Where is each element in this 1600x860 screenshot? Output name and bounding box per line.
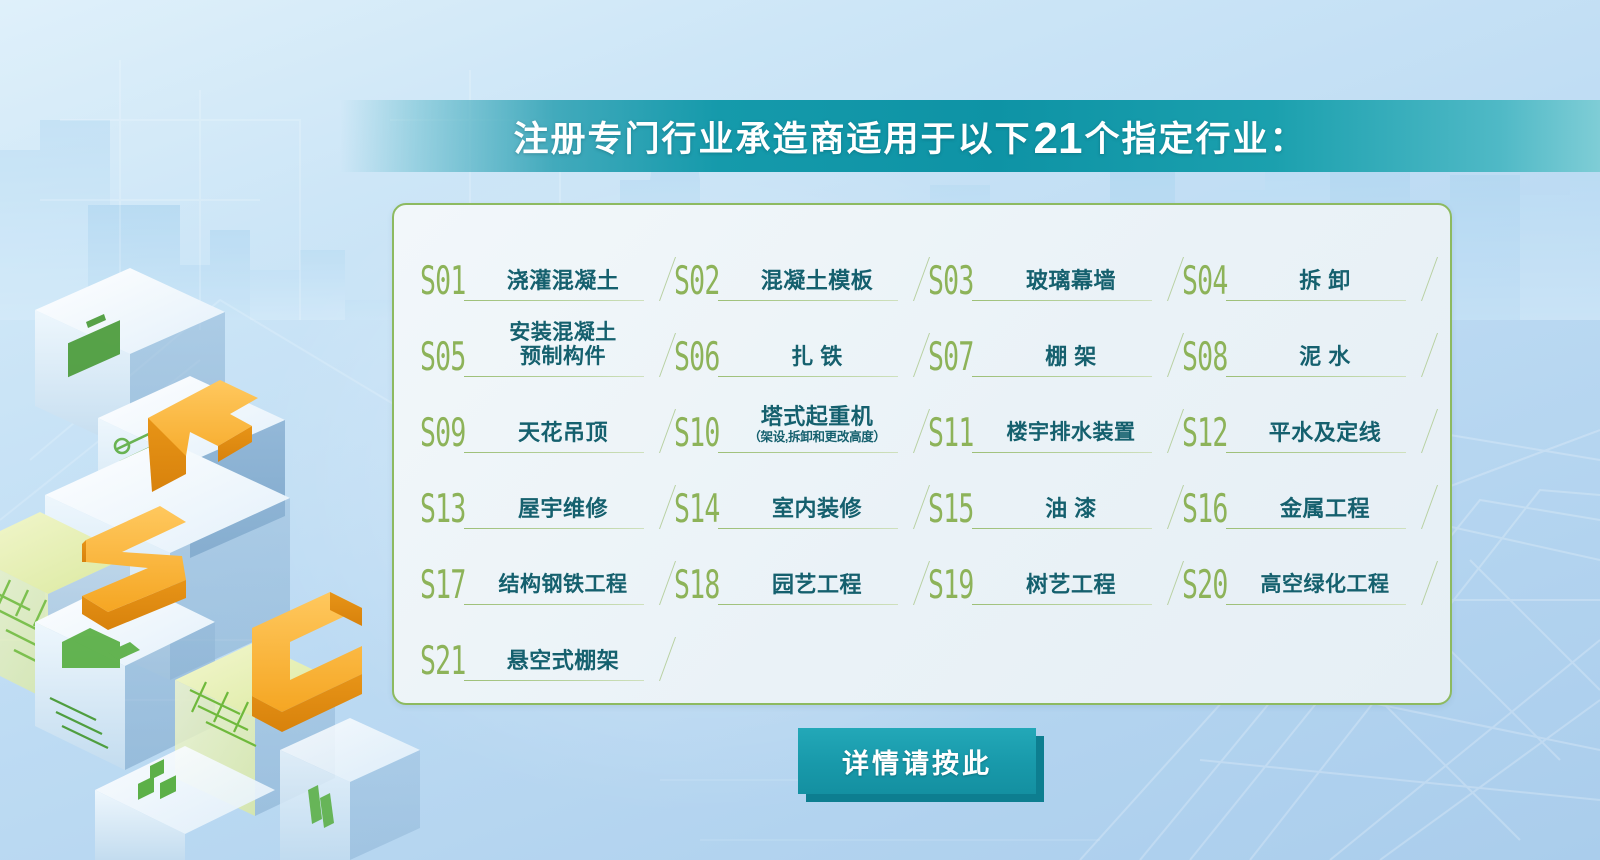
trade-item[interactable]: S09天花吊顶 [416,383,670,459]
trade-underline [718,604,898,605]
trade-code: S08 [1182,338,1230,377]
trade-code: S21 [420,642,468,681]
trade-separator-slash [1421,561,1438,605]
trade-label-wrap: 混凝土模板 [736,268,898,299]
trade-code: S13 [420,490,468,529]
trade-code: S19 [928,566,976,605]
trade-item[interactable]: S14室内装修 [670,459,924,535]
trade-sublabel: （架设,拆卸和更改高度） [748,430,885,445]
poster-root: 注册专门行业承造商适用于以下21个指定行业： S01浇灌混凝土S02混凝土模板S… [0,0,1600,860]
details-button[interactable]: 详情请按此 [798,728,1036,794]
trade-code: S05 [420,338,468,377]
trade-label: 园艺工程 [772,572,862,597]
trade-underline [464,528,644,529]
trade-underline [972,528,1152,529]
trade-label-wrap: 树艺工程 [990,572,1152,603]
trade-label: 悬空式棚架 [507,648,620,673]
trade-code: S03 [928,262,976,301]
trade-code: S01 [420,262,468,301]
page-title: 注册专门行业承造商适用于以下21个指定行业： [514,111,1307,162]
trade-code: S12 [1182,414,1230,453]
trade-item[interactable]: S19树艺工程 [924,535,1178,611]
trade-underline [718,528,898,529]
trade-code: S06 [674,338,722,377]
trade-underline [464,604,644,605]
trade-label: 平水及定线 [1269,420,1382,445]
trade-item[interactable]: S08泥 水 [1178,307,1432,383]
title-suffix: 个指定行业： [1084,120,1306,159]
trade-label: 玻璃幕墙 [1026,268,1116,293]
trade-item[interactable]: S18园艺工程 [670,535,924,611]
trade-underline [464,680,644,681]
trade-underline [1226,528,1406,529]
details-button-label: 详情请按此 [842,742,992,781]
trade-label: 高空绿化工程 [1261,573,1390,597]
trade-code: S18 [674,566,722,605]
trade-code: S15 [928,490,976,529]
trade-label: 树艺工程 [1026,572,1116,597]
isometric-cubes-illustration [0,250,460,860]
title-prefix: 注册专门行业承造商适用于以下 [514,120,1032,159]
trade-label: 棚 架 [1045,344,1097,369]
trade-label-wrap: 高空绿化工程 [1244,573,1406,603]
trade-item[interactable]: S17结构钢铁工程 [416,535,670,611]
trade-label-wrap: 扎 铁 [736,344,898,375]
trades-card: S01浇灌混凝土S02混凝土模板S03玻璃幕墙S04拆 卸S05安装混凝土 预制… [392,203,1452,705]
trade-separator-slash [1421,333,1438,377]
trade-label-wrap: 楼宇排水装置 [990,421,1152,451]
trade-code: S04 [1182,262,1230,301]
trade-label-wrap: 园艺工程 [736,572,898,603]
trade-label: 油 漆 [1045,496,1097,521]
trade-item[interactable]: S02混凝土模板 [670,231,924,307]
trade-label-wrap: 油 漆 [990,496,1152,527]
trade-label-wrap: 室内装修 [736,496,898,527]
trade-separator-slash [1421,409,1438,453]
trade-item[interactable]: S07棚 架 [924,307,1178,383]
trade-code: S17 [420,566,468,605]
trade-code: S16 [1182,490,1230,529]
trade-code: S11 [928,414,976,453]
trade-underline [718,452,898,453]
trade-label: 拆 卸 [1299,268,1351,293]
trade-label: 金属工程 [1280,496,1370,521]
trade-code: S14 [674,490,722,529]
trade-separator-slash [1421,485,1438,529]
trade-item[interactable]: S12平水及定线 [1178,383,1432,459]
trade-count: 21 [1032,114,1085,163]
trade-code: S10 [674,414,722,453]
trade-underline [718,300,898,301]
trade-code: S02 [674,262,722,301]
title-banner: 注册专门行业承造商适用于以下21个指定行业： [340,100,1600,172]
trade-item[interactable]: S10塔式起重机（架设,拆卸和更改高度） [670,383,924,459]
trade-item[interactable]: S16金属工程 [1178,459,1432,535]
trade-label-wrap: 棚 架 [990,344,1152,375]
trade-underline [972,604,1152,605]
trade-label-wrap: 金属工程 [1244,496,1406,527]
trade-label: 浇灌混凝土 [507,268,620,293]
trade-underline [1226,300,1406,301]
trade-item[interactable]: S15油 漆 [924,459,1178,535]
trade-label: 结构钢铁工程 [499,573,628,597]
trade-label: 扎 铁 [791,344,843,369]
trade-label: 天花吊顶 [518,420,608,445]
trade-underline [972,452,1152,453]
trade-label: 安装混凝土 预制构件 [509,321,617,369]
trade-item[interactable]: S11楼宇排水装置 [924,383,1178,459]
trade-underline [1226,376,1406,377]
trade-item[interactable]: S21悬空式棚架 [416,611,670,687]
trade-label: 屋宇维修 [518,496,608,521]
trade-label-wrap: 悬空式棚架 [482,648,644,679]
trade-underline [972,376,1152,377]
trade-label: 楼宇排水装置 [1007,421,1136,445]
trade-code: S07 [928,338,976,377]
trade-label-wrap: 屋宇维修 [482,496,644,527]
trade-underline [464,376,644,377]
trade-code: S09 [420,414,468,453]
trade-code: S20 [1182,566,1230,605]
trade-item[interactable]: S04拆 卸 [1178,231,1432,307]
trade-underline [718,376,898,377]
trade-label: 室内装修 [772,496,862,521]
trade-label: 泥 水 [1299,344,1351,369]
trade-underline [1226,452,1406,453]
trade-label-wrap: 安装混凝土 预制构件 [482,321,644,375]
trade-underline [464,300,644,301]
trade-separator-slash [659,637,676,681]
trade-item[interactable]: S20高空绿化工程 [1178,535,1432,611]
trade-label-wrap: 泥 水 [1244,344,1406,375]
trade-separator-slash [1421,257,1438,301]
trade-underline [972,300,1152,301]
trade-label: 混凝土模板 [761,268,874,293]
trade-label-wrap: 天花吊顶 [482,420,644,451]
trade-item[interactable]: S06扎 铁 [670,307,924,383]
trade-item[interactable]: S03玻璃幕墙 [924,231,1178,307]
trade-underline [1226,604,1406,605]
trade-label-wrap: 塔式起重机（架设,拆卸和更改高度） [736,404,898,451]
trade-label: 塔式起重机 [761,404,874,429]
trade-item[interactable]: S13屋宇维修 [416,459,670,535]
trade-item[interactable]: S05安装混凝土 预制构件 [416,307,670,383]
trades-grid: S01浇灌混凝土S02混凝土模板S03玻璃幕墙S04拆 卸S05安装混凝土 预制… [416,231,1432,687]
trade-label-wrap: 玻璃幕墙 [990,268,1152,299]
trade-label-wrap: 拆 卸 [1244,268,1406,299]
trade-label-wrap: 平水及定线 [1244,420,1406,451]
trade-label-wrap: 结构钢铁工程 [482,573,644,603]
trade-underline [464,452,644,453]
trade-item[interactable]: S01浇灌混凝土 [416,231,670,307]
trade-label-wrap: 浇灌混凝土 [482,268,644,299]
